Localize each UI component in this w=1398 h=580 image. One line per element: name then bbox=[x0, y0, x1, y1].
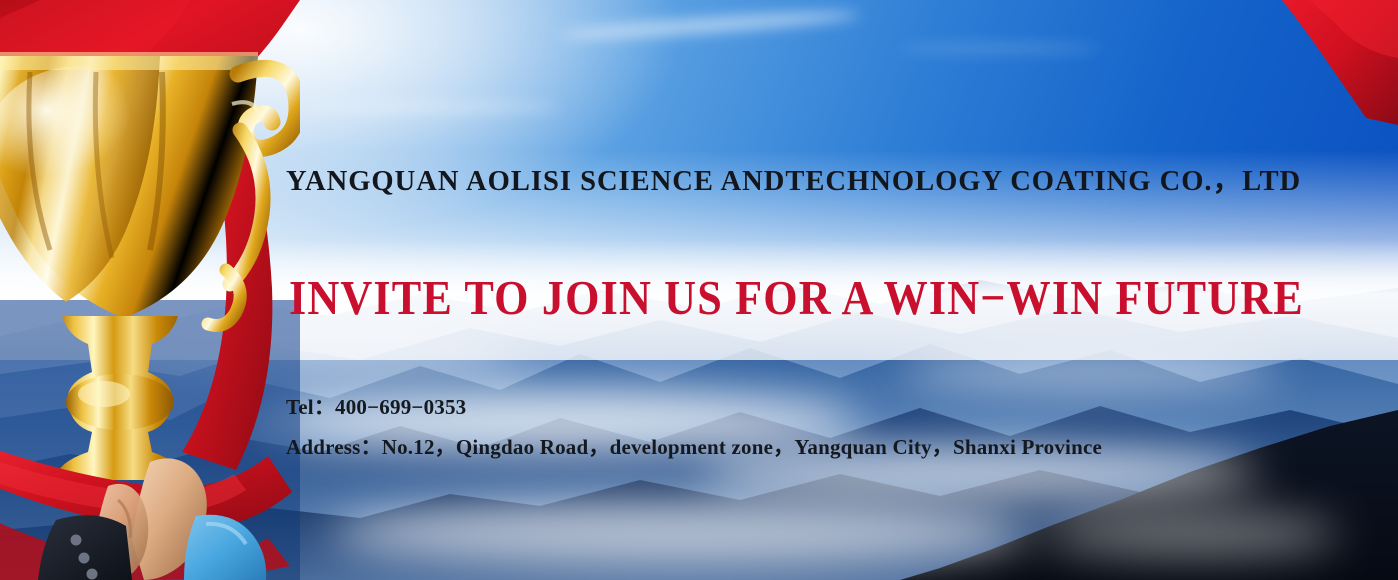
cloud-wisp bbox=[300, 102, 560, 112]
suit-button bbox=[71, 535, 82, 546]
knop-highlight bbox=[78, 381, 130, 407]
headline-slogan: INVITE TO JOIN US FOR A WIN−WIN FUTURE bbox=[289, 269, 1304, 325]
red-corner-drape bbox=[1248, 0, 1398, 125]
contact-telephone: Tel：400−699−0353 bbox=[286, 391, 466, 421]
trophy-composition bbox=[0, 0, 300, 580]
suit-button bbox=[87, 569, 98, 580]
cloud-wisp bbox=[900, 44, 1100, 53]
contact-address: Address：No.12，Qingdao Road，development z… bbox=[286, 431, 1102, 461]
suit-button bbox=[79, 553, 90, 564]
company-name: YANGQUAN AOLISI SCIENCE ANDTECHNOLOGY CO… bbox=[286, 157, 1301, 199]
promotional-banner: YANGQUAN AOLISI SCIENCE ANDTECHNOLOGY CO… bbox=[0, 0, 1398, 580]
trophy-rim bbox=[0, 52, 258, 70]
